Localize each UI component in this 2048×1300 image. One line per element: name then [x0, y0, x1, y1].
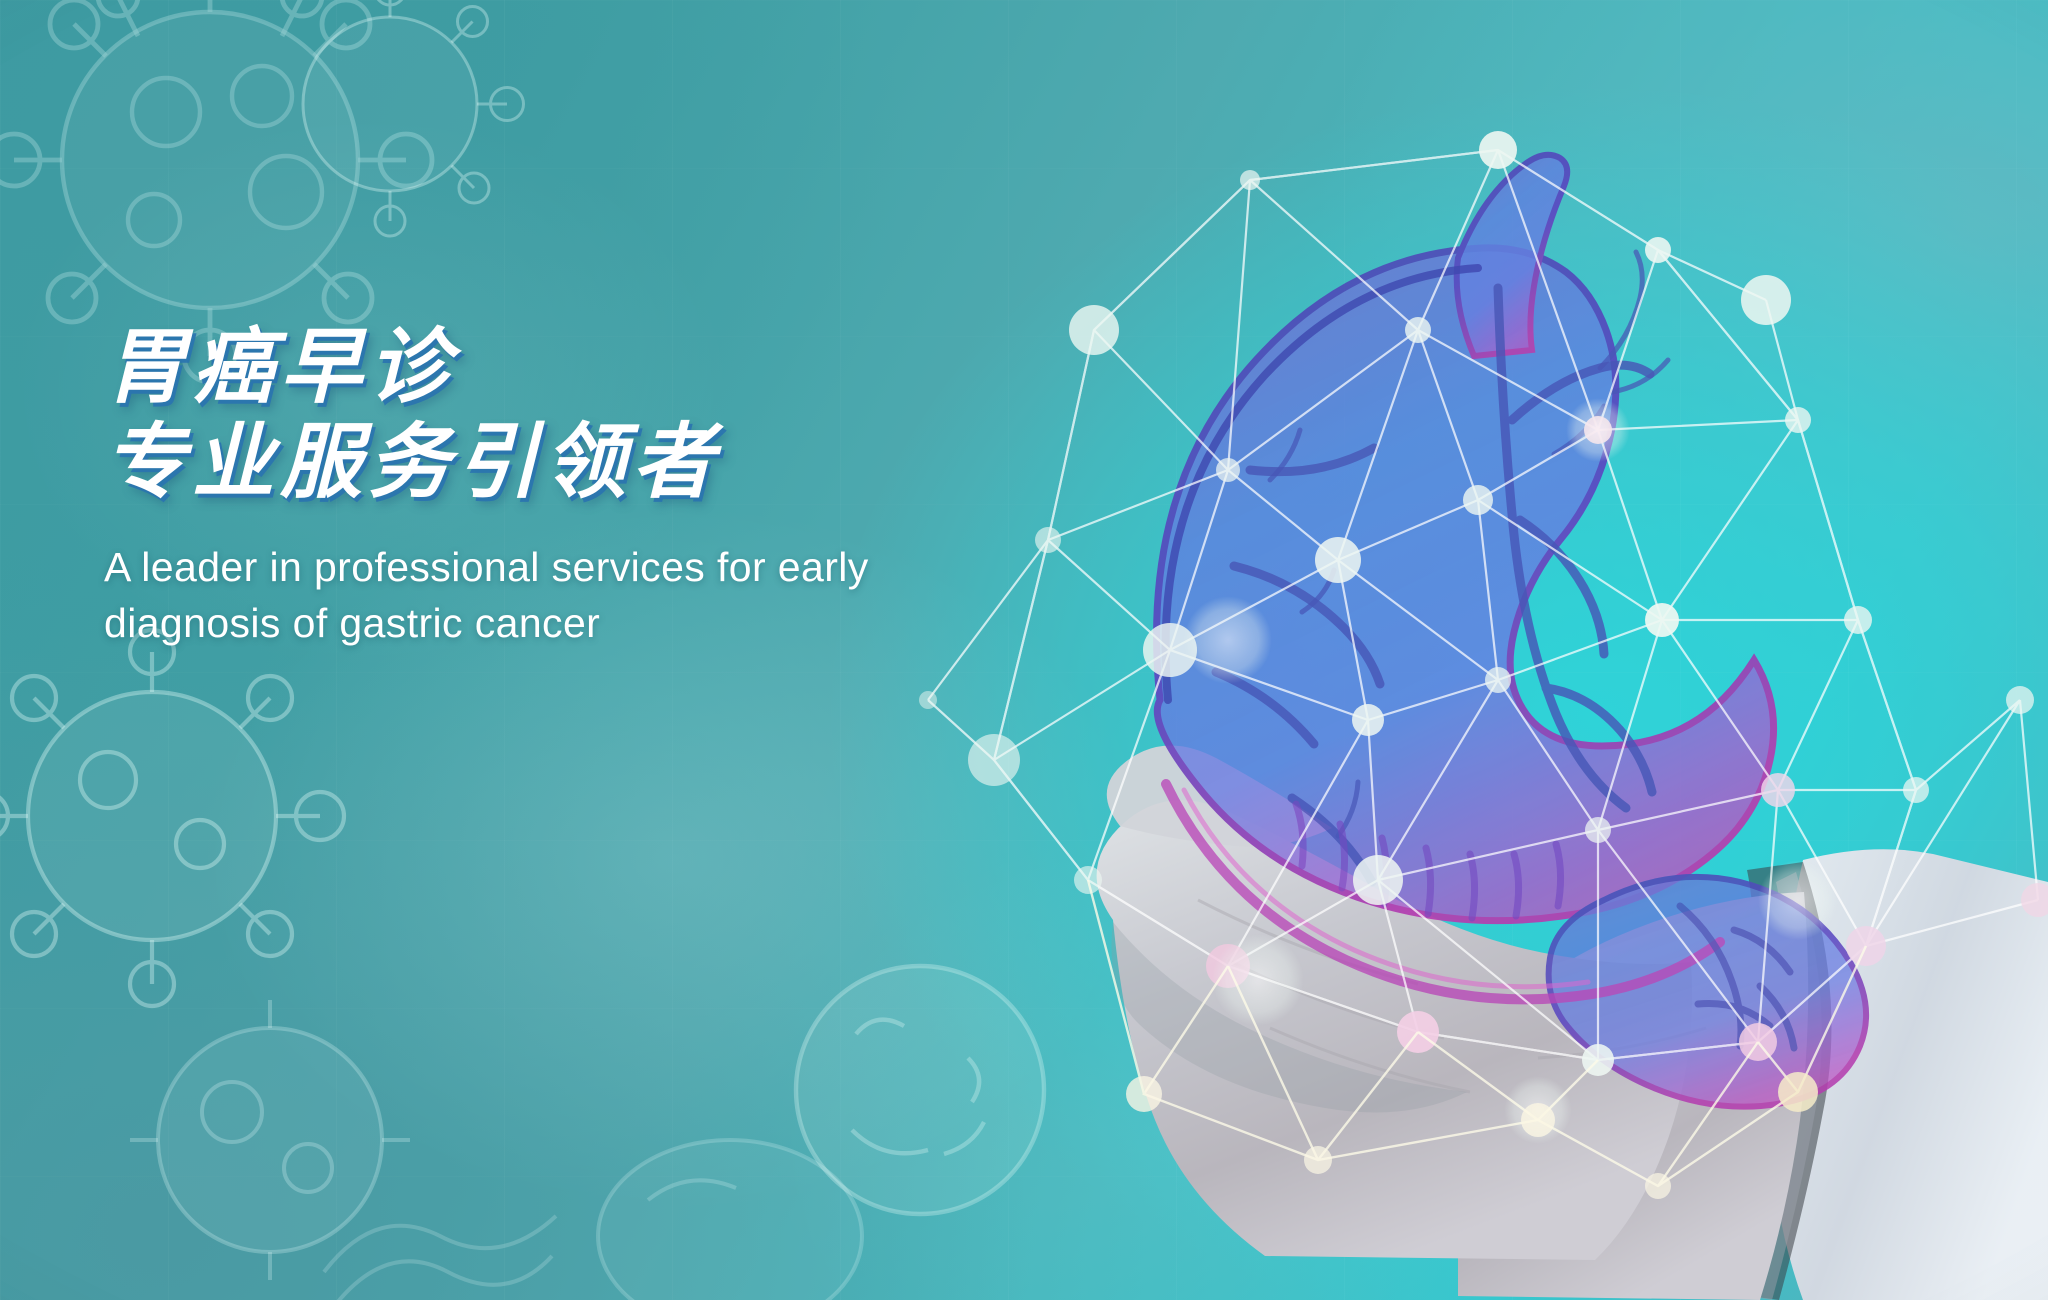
vignette-overlay: [0, 0, 2048, 1300]
promotional-banner: 胃癌早诊 专业服务引领者 A leader in professional se…: [0, 0, 2048, 1300]
